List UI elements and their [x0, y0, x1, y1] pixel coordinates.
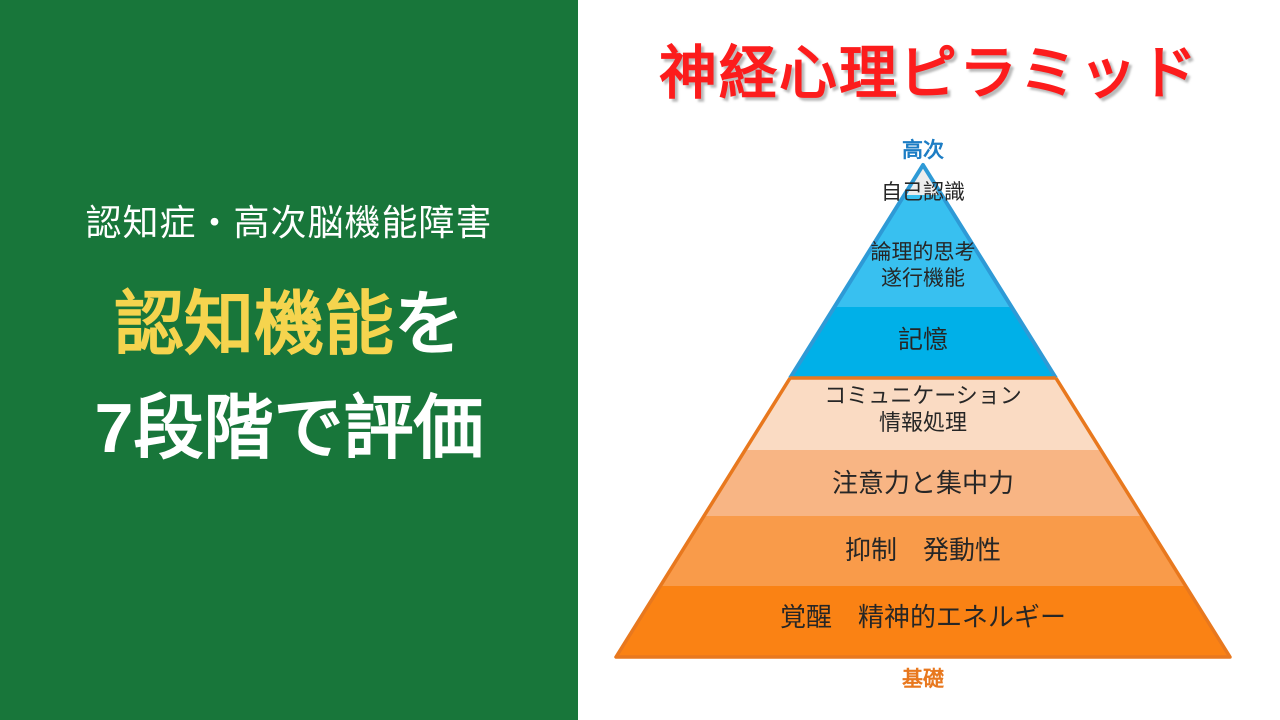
headline-highlight: 認知機能: [114, 285, 394, 363]
pyramid-level-1-shape: [904, 165, 941, 195]
subtitle-text: 認知症・高次脳機能障害: [0, 194, 578, 246]
pyramid-apex-label: 高次: [843, 134, 1003, 164]
pyramid-base-label: 基礎: [843, 663, 1003, 693]
pyramid-level-6-shape: [660, 516, 1185, 586]
pyramid-svg: [578, 0, 1280, 720]
pyramid-level-2-shape: [834, 195, 1011, 307]
pyramid-level-4-shape: [745, 378, 1101, 450]
left-green-panel: 認知症・高次脳機能障害 認知機能を 7段階で評価: [0, 0, 578, 720]
pyramid-level-7-shape: [616, 586, 1230, 657]
headline-line-1: 認知機能を: [0, 288, 578, 362]
slide-canvas: 認知症・高次脳機能障害 認知機能を 7段階で評価 神経心理ピラミッド: [0, 0, 1280, 720]
pyramid-diagram: 高次 基礎 自己認識 論理的思考 遂行機能 記憶 コミュニケーション 情報処理 …: [578, 0, 1280, 720]
headline-particle: を: [394, 285, 464, 363]
pyramid-level-5-shape: [704, 450, 1142, 516]
headline-line-2: 7段階で評価: [0, 392, 578, 466]
